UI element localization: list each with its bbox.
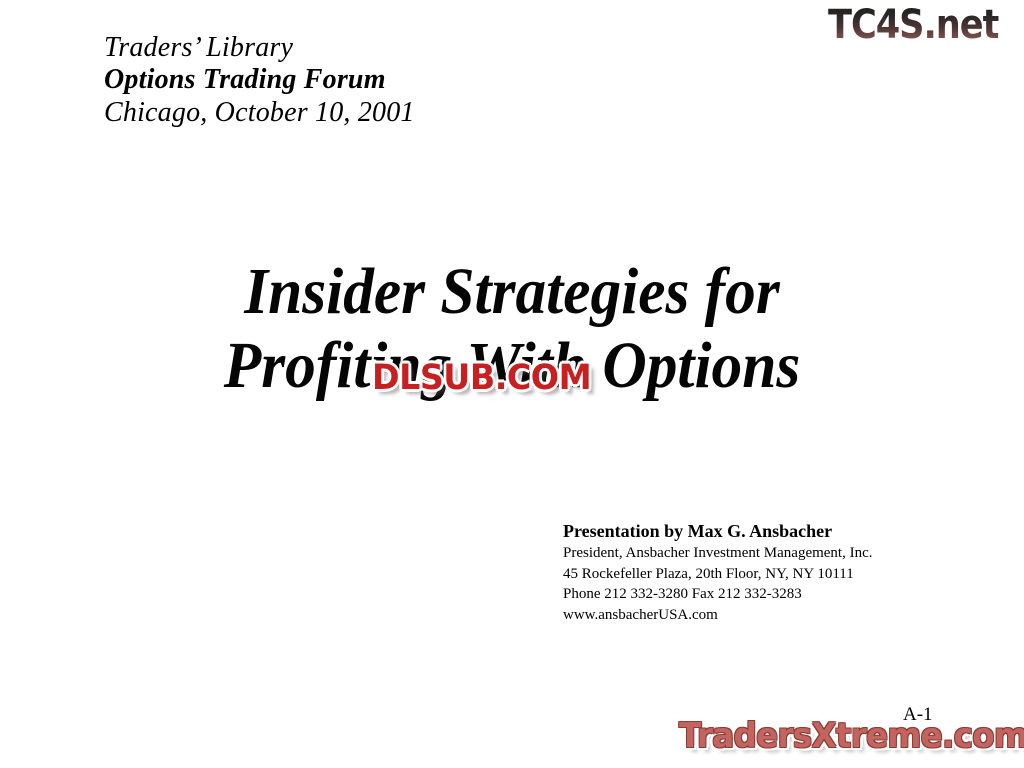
watermark-tradersxtreme-logo: TradersXtreme.com [679,716,1024,756]
presenter-title: President, Ansbacher Investment Manageme… [563,543,873,563]
presenter-address: 45 Rockefeller Plaza, 20th Floor, NY, NY… [563,564,873,584]
event-organizer-line: Traders’ Library [104,32,415,64]
event-name-line: Options Trading Forum [104,64,415,96]
presentation-slide: Traders’ Library Options Trading Forum C… [0,0,1024,768]
presenter-website: www.ansbacherUSA.com [563,605,873,625]
event-header: Traders’ Library Options Trading Forum C… [104,32,415,129]
presenter-block: Presentation by Max G. Ansbacher Preside… [563,519,873,625]
presenter-phone-fax: Phone 212 332-3280 Fax 212 332-3283 [563,584,873,604]
presenter-name: Presentation by Max G. Ansbacher [563,519,873,543]
event-location-date-line: Chicago, October 10, 2001 [104,97,415,129]
watermark-tc4s-logo: TC4S.net [828,2,998,48]
title-line-1: Insider Strategies for [36,255,988,329]
watermark-dlsub-logo: DLSUB.COM [372,358,591,398]
